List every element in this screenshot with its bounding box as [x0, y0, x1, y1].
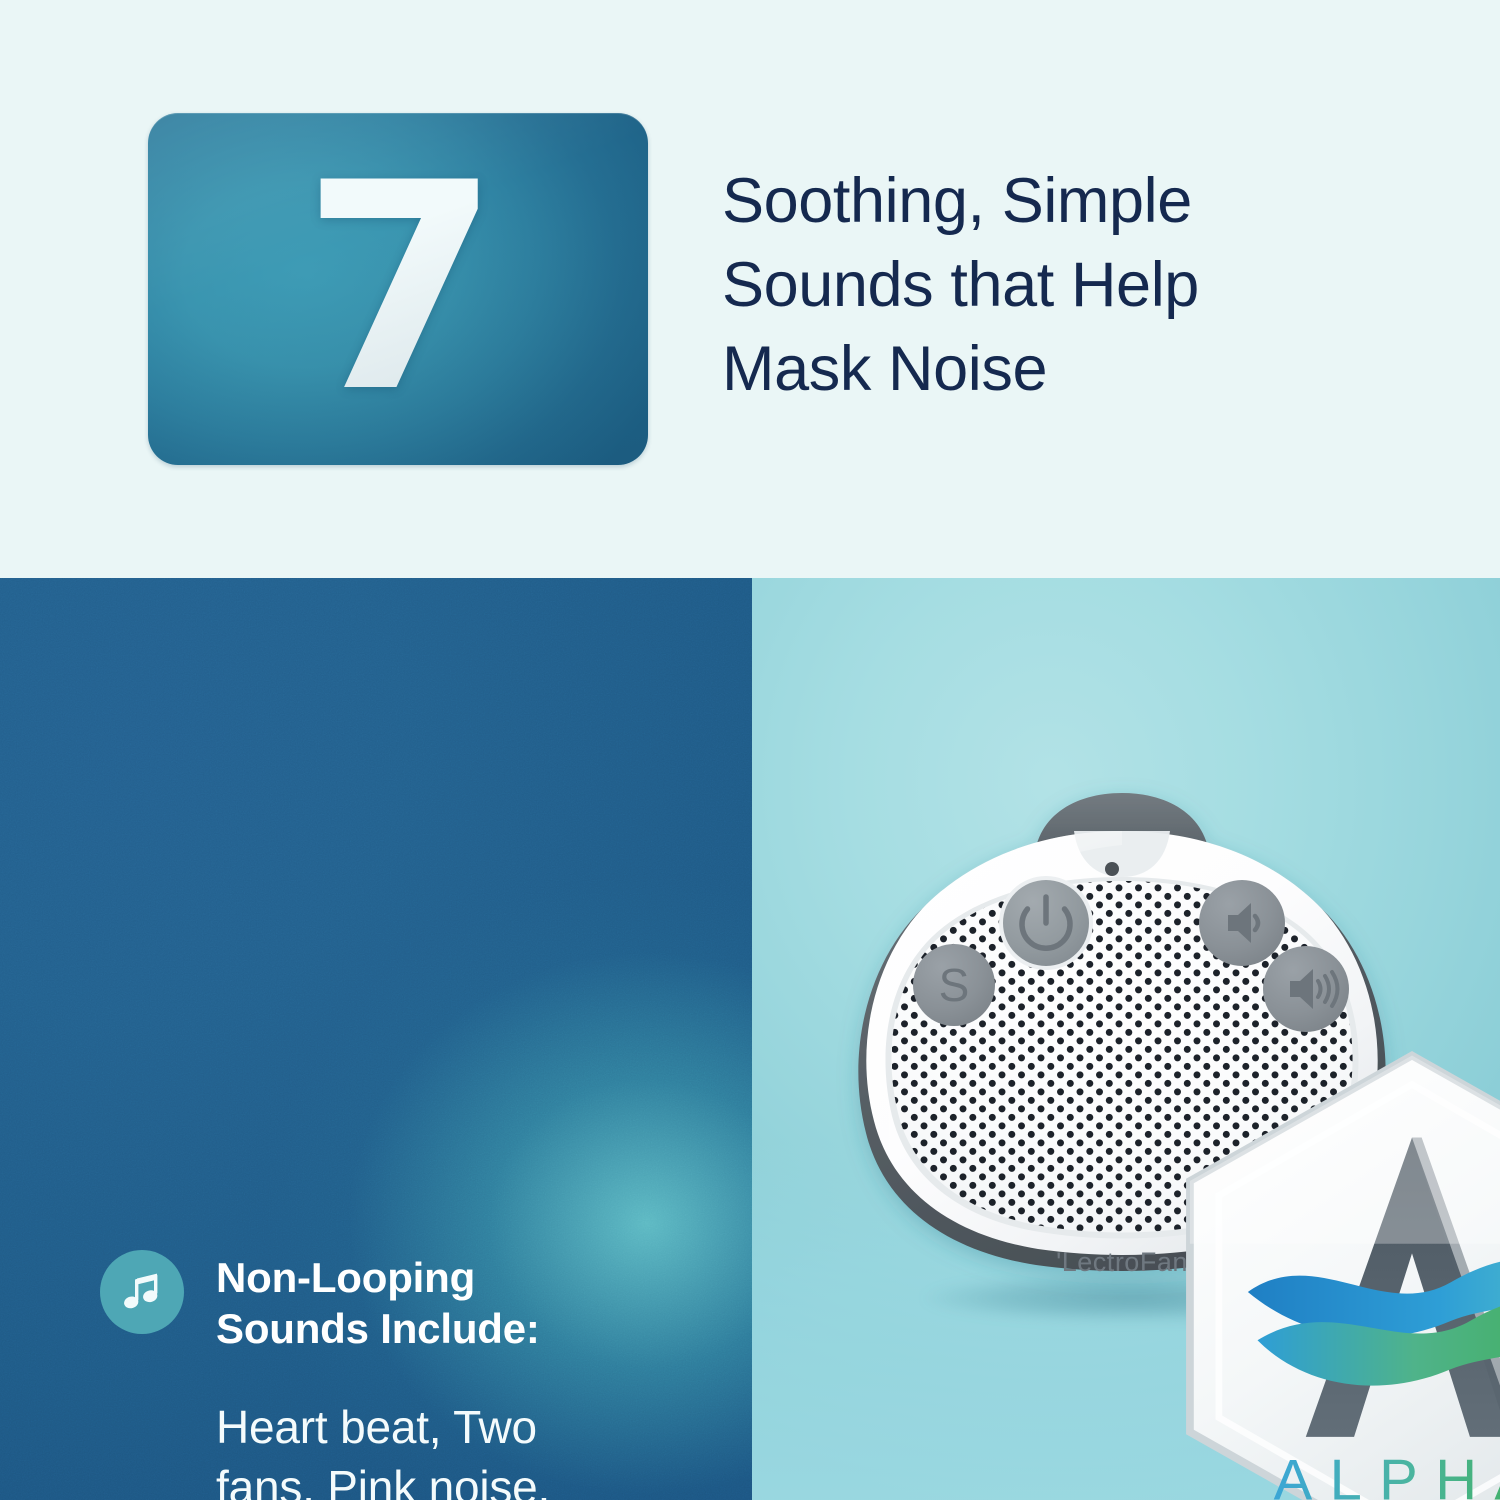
sound-select-button[interactable]: S [913, 944, 995, 1026]
page-title: Soothing, Simple Sounds that Help Mask N… [722, 160, 1422, 411]
product-image: S [812, 773, 1432, 1333]
led-indicator [1105, 862, 1119, 876]
badge-number: 7 [148, 146, 648, 432]
sound-select-label: S [939, 959, 970, 1011]
infographic-page: 7 Soothing, Simple Sounds that Help Mask… [0, 0, 1500, 1500]
sounds-line-2: fans, Pink noise, [216, 1458, 686, 1500]
power-button[interactable] [999, 876, 1093, 970]
feature-title-line-2: Sounds Include: [216, 1303, 540, 1354]
sounds-list: Heart beat, Two fans, Pink noise, Brown … [216, 1398, 686, 1500]
headline-line-2: Sounds that Help [722, 244, 1422, 328]
features-panel: Non-Looping Sounds Include: Heart beat, … [0, 578, 752, 1500]
feature-non-looping-title: Non-Looping Sounds Include: [216, 1252, 540, 1354]
sounds-line-1: Heart beat, Two [216, 1398, 686, 1458]
number-badge: 7 [148, 113, 648, 465]
headline-line-3: Mask Noise [722, 328, 1422, 412]
alpha-logo-badge: A ALPHA [1102, 1041, 1210, 1157]
top-panel: 7 Soothing, Simple Sounds that Help Mask… [0, 0, 1500, 578]
brand-name: 'LectroFan [812, 1247, 1432, 1278]
feature-title-line-1: Non-Looping [216, 1252, 540, 1303]
feature-non-looping: Non-Looping Sounds Include: [100, 1250, 540, 1354]
volume-down-button[interactable] [1199, 880, 1285, 966]
double-eighth-note-icon [100, 1250, 184, 1334]
logo-gloss [1190, 1055, 1500, 1243]
headline-line-1: Soothing, Simple [722, 160, 1422, 244]
alpha-wordmark: ALPHA [1274, 1449, 1500, 1500]
volume-up-button[interactable] [1263, 946, 1349, 1032]
product-panel: S [752, 578, 1500, 1500]
